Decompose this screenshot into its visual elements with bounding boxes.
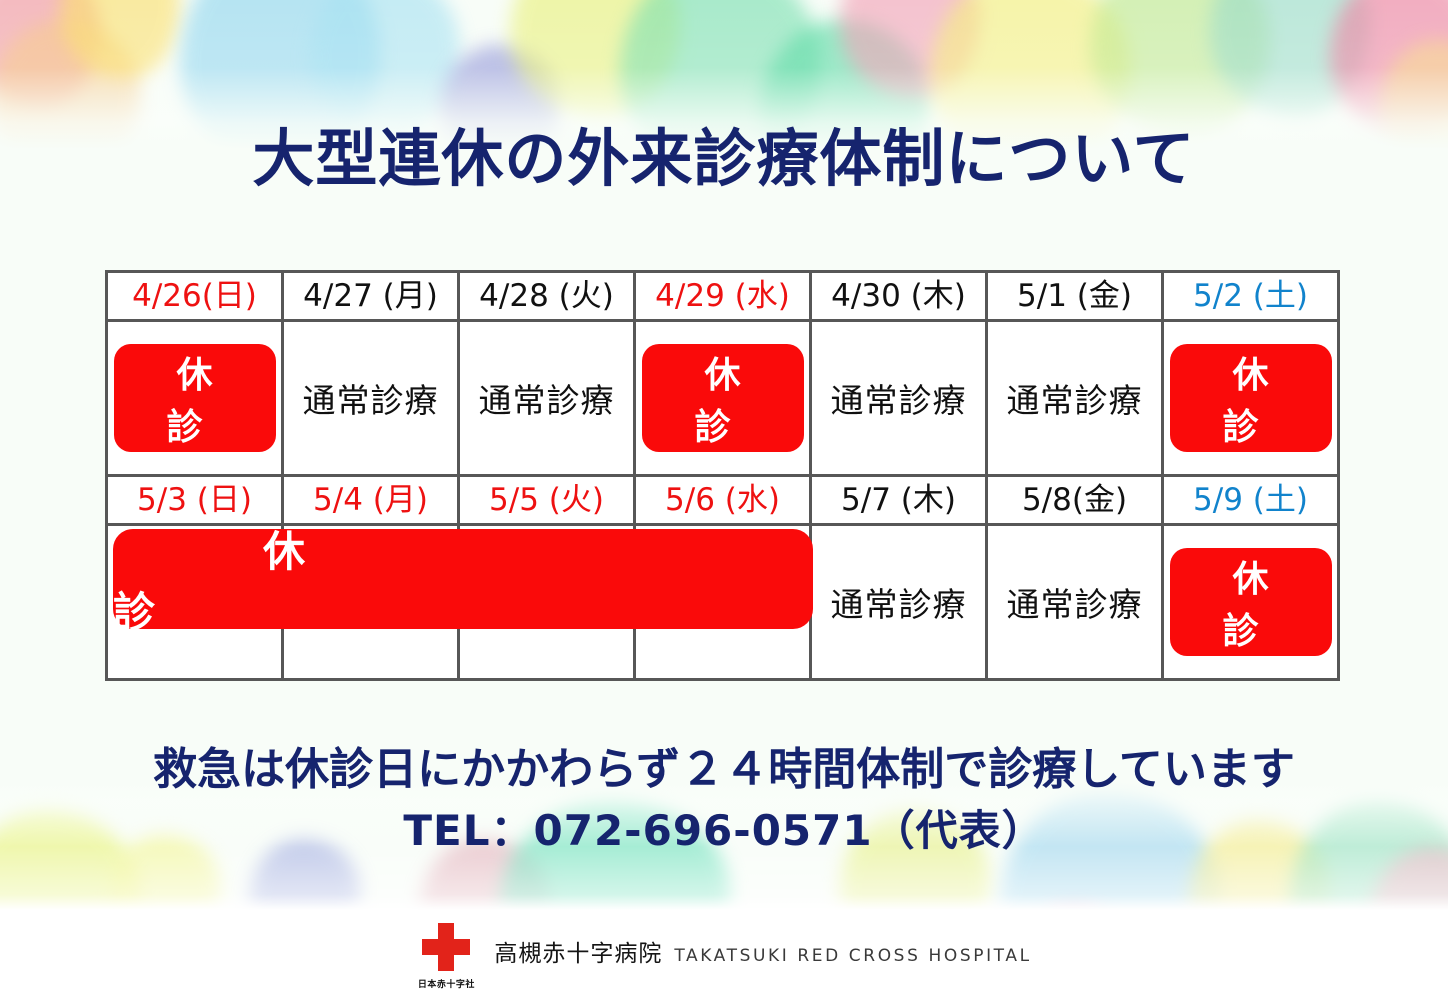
status-cell-closed-merged	[459, 525, 635, 680]
status-cell-closed: 休 診	[1163, 525, 1339, 680]
date-cell: 4/29 (水)	[635, 272, 811, 321]
status-cell-normal: 通常診療	[811, 525, 987, 680]
normal-service-label: 通常診療	[1007, 585, 1143, 624]
normal-service-label: 通常診療	[831, 585, 967, 624]
date-cell: 5/2 (土)	[1163, 272, 1339, 321]
status-cell-closed: 休 診	[1163, 321, 1339, 476]
date-cell: 5/6 (水)	[635, 476, 811, 525]
date-cell: 5/8(金)	[987, 476, 1163, 525]
table-row-dates-1: 4/26(日) 4/27 (月) 4/28 (火) 4/29 (水) 4/30 …	[107, 272, 1339, 321]
table-row-dates-2: 5/3 (日) 5/4 (月) 5/5 (火) 5/6 (水) 5/7 (木) …	[107, 476, 1339, 525]
status-cell-normal: 通常診療	[987, 525, 1163, 680]
hospital-name-ja: 高槻赤十字病院	[494, 934, 662, 968]
emergency-notice: 救急は休診日にかかわらず２４時間体制で診療しています	[0, 733, 1448, 797]
status-cell-normal: 通常診療	[459, 321, 635, 476]
red-cross-icon	[418, 921, 474, 975]
closed-badge: 休 診	[114, 344, 276, 452]
schedule-table: 4/26(日) 4/27 (月) 4/28 (火) 4/29 (水) 4/30 …	[105, 270, 1340, 681]
red-cross-logo: 日本赤十字社	[416, 921, 476, 990]
date-cell: 5/5 (火)	[459, 476, 635, 525]
status-cell-closed: 休 診	[107, 321, 283, 476]
telephone-line: TEL：072-696-0571（代表）	[0, 797, 1448, 858]
closed-badge: 休 診	[1170, 344, 1332, 452]
date-cell: 4/28 (火)	[459, 272, 635, 321]
status-cell-closed: 休 診	[635, 321, 811, 476]
closed-badge: 休 診	[642, 344, 804, 452]
date-cell: 5/4 (月)	[283, 476, 459, 525]
poster-root: 大型連休の外来診療体制について 4/26(日) 4/27 (月) 4/28 (火…	[0, 0, 1448, 1000]
date-cell: 5/1 (金)	[987, 272, 1163, 321]
schedule-table-container: 4/26(日) 4/27 (月) 4/28 (火) 4/29 (水) 4/30 …	[105, 270, 1337, 681]
hospital-name-en: TAKATSUKI RED CROSS HOSPITAL	[674, 946, 1031, 966]
jrc-caption: 日本赤十字社	[418, 977, 475, 990]
status-cell-normal: 通常診療	[811, 321, 987, 476]
date-cell: 5/7 (木)	[811, 476, 987, 525]
date-cell: 4/27 (月)	[283, 272, 459, 321]
status-cell-closed-merged	[107, 525, 283, 680]
table-row-status-2: 通常診療 通常診療 休 診	[107, 525, 1339, 680]
date-cell: 5/3 (日)	[107, 476, 283, 525]
status-cell-normal: 通常診療	[283, 321, 459, 476]
footer: 日本赤十字社 高槻赤十字病院 TAKATSUKI RED CROSS HOSPI…	[0, 910, 1448, 1000]
normal-service-label: 通常診療	[479, 381, 615, 420]
date-cell: 5/9 (土)	[1163, 476, 1339, 525]
date-cell: 4/26(日)	[107, 272, 283, 321]
table-row-status-1: 休 診 通常診療 通常診療 休 診 通常診療 通常診療	[107, 321, 1339, 476]
page-title: 大型連休の外来診療体制について	[0, 126, 1448, 191]
status-cell-normal: 通常診療	[987, 321, 1163, 476]
normal-service-label: 通常診療	[303, 381, 439, 420]
status-cell-closed-merged	[283, 525, 459, 680]
closed-badge: 休 診	[1170, 548, 1332, 656]
normal-service-label: 通常診療	[1007, 381, 1143, 420]
status-cell-closed-merged	[635, 525, 811, 680]
date-cell: 4/30 (木)	[811, 272, 987, 321]
normal-service-label: 通常診療	[831, 381, 967, 420]
